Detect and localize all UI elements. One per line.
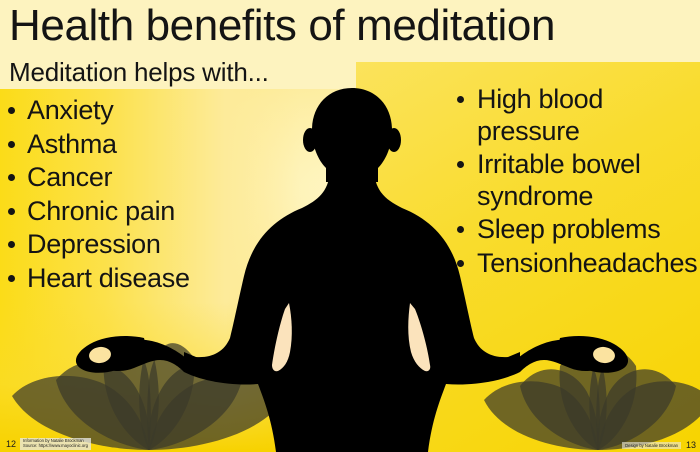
bullet-icon: [457, 161, 464, 168]
list-item: Irritable bowel syndrome: [456, 149, 700, 212]
bullet-icon: [8, 107, 15, 114]
list-item: Depression: [6, 229, 236, 261]
benefits-list-right: High blood pressure Irritable bowel synd…: [456, 84, 700, 281]
page-title: Health benefits of meditation: [9, 0, 555, 55]
list-item: Asthma: [6, 129, 236, 161]
page-number-left: 12: [4, 439, 16, 449]
credit-box: Information by Natalie Brockman Source: …: [20, 438, 91, 450]
bullet-icon: [8, 275, 15, 282]
list-item-label: Heart disease: [27, 263, 190, 293]
bullet-icon: [8, 141, 15, 148]
list-item: Chronic pain: [6, 196, 236, 228]
list-item-label: Chronic pain: [27, 196, 175, 226]
bullet-icon: [457, 96, 464, 103]
list-item: Tensionheadaches: [456, 248, 700, 280]
bullet-icon: [457, 260, 464, 267]
credit-design-line: Design by Natalie Brockman: [622, 442, 681, 449]
page-subtitle: Meditation helps with...: [9, 55, 269, 89]
list-item-label: Anxiety: [27, 95, 113, 125]
list-item-label: Asthma: [27, 129, 117, 159]
list-item: Cancer: [6, 162, 236, 194]
credit-right: Design by Natalie Brockman 13: [622, 440, 696, 450]
list-item-label: High blood pressure: [477, 84, 603, 146]
bullet-icon: [8, 208, 15, 215]
lotus-flower-left: [4, 322, 294, 452]
slide-canvas: Health benefits of meditation Meditation…: [0, 0, 700, 452]
list-item-label: Cancer: [27, 162, 112, 192]
credit-source-line: Source: https://www.mayoclinic.org: [23, 444, 88, 449]
benefits-list-left: Anxiety Asthma Cancer Chronic pain Depre…: [6, 95, 236, 296]
bullet-icon: [8, 174, 15, 181]
credit-left: 12 Information by Natalie Brockman Sourc…: [4, 438, 91, 450]
list-item: High blood pressure: [456, 84, 700, 147]
list-item-label: Sleep problems: [477, 214, 660, 244]
lotus-flower-right: [478, 330, 700, 452]
bullet-icon: [457, 226, 464, 233]
list-item-label: Depression: [27, 229, 161, 259]
list-item-label: Irritable bowel syndrome: [477, 149, 641, 211]
page-number-right: 13: [686, 440, 696, 450]
bullet-icon: [8, 241, 15, 248]
list-item: Sleep problems: [456, 214, 700, 246]
list-item: Anxiety: [6, 95, 236, 127]
list-item: Heart disease: [6, 263, 236, 295]
list-item-label: Tensionheadaches: [477, 248, 697, 278]
